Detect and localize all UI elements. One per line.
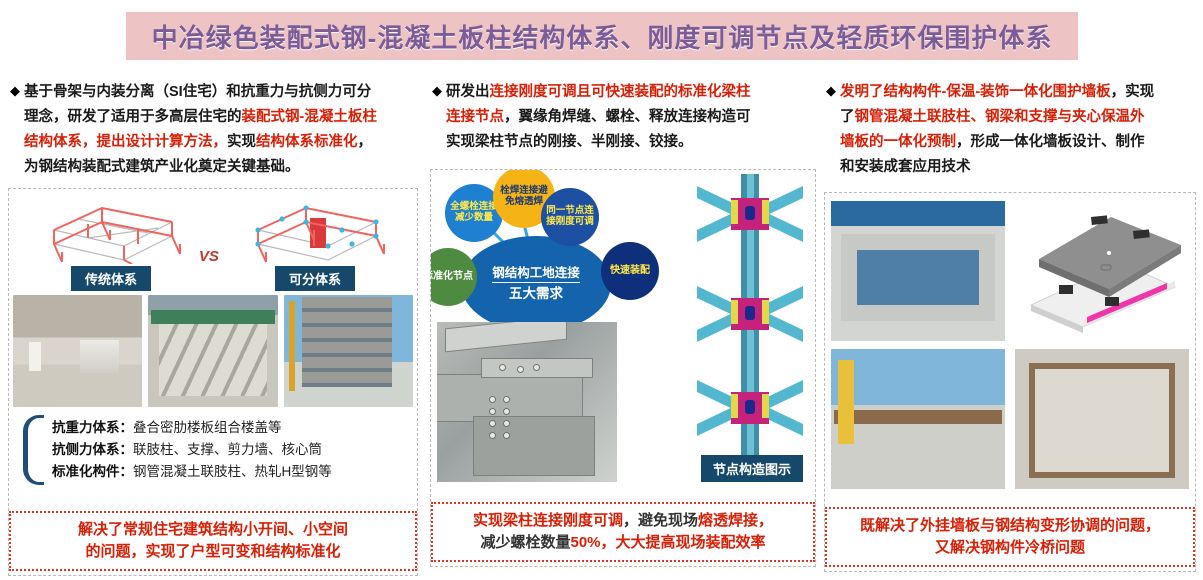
text-run: 为钢结构装配式建筑产业化奠定关键基础。 [24,159,300,175]
poster-root: 中冶绿色装配式钢-混凝土板柱结构体系、刚度可调节点及轻质环保围护体系 ◆ 基于骨… [0,0,1203,580]
paragraph-line: 了钢管混凝土联肢柱、钢梁和支撑与夹心保温外 [840,105,1192,130]
column-1-paragraph: 基于骨架与内装分离（SI住宅）和抗重力与抗侧力可分理念，研发了适用于多高层住宅的… [24,80,414,180]
photo-interior [13,295,142,407]
text-run: 基于骨架与内装分离（SI住宅）和抗重力与抗侧力可分 [24,84,371,100]
photo-panel-3d-model [1015,201,1189,341]
node-figure-label: 节点构造图示 [701,455,803,482]
paragraph-line: 为钢结构装配式建筑产业化奠定关键基础。 [24,155,414,180]
paragraph-line: 实现梁柱节点的刚接、半刚接、铰接。 [446,130,812,155]
column-1-panel: 传统体系 [8,188,418,576]
text-run: 实现梁柱连接刚度可调 [473,512,623,529]
photo-site-hoisting [831,349,1005,489]
frame-traditional: 传统体系 [36,200,186,291]
text-run: 熔透焊接， [698,512,773,529]
paragraph-line: 理念，研发了适用于多高层住宅的装配式钢-混凝土板柱 [24,105,414,130]
photo-facade-result [1015,349,1189,489]
row-0-key: 抗重力体系： [52,420,133,435]
paragraph-line: 和安装成套应用技术 [840,155,1192,180]
column-3-photo-row-1 [825,193,1195,341]
text-run: 减少螺栓数量 [480,534,570,551]
column-3-heading: ◆ 发明了结构构件-保温-装饰一体化围护墙板，实现了钢管混凝土联肢柱、钢梁和支撑… [824,78,1196,184]
panel-model-svg [1015,201,1189,341]
text-run: ，实现 [1111,84,1155,100]
column-2-panel: 钢结构工地连接 五大需求 全螺栓连接减少数量 栓焊连接避免熔透焊 同一节点连接刚… [430,169,816,567]
frame-traditional-label: 传统体系 [71,266,151,291]
column-3-photo-row-2 [825,341,1195,489]
column-1-conclusion: 解决了常规住宅建筑结构小开间、小空间的问题，实现了户型可变和结构标准化 [9,511,417,571]
text-run: 和安装成套应用技术 [840,159,971,175]
frame-separable: 可分体系 [240,200,390,291]
column-node-schematic [691,170,809,470]
row-2-val: 钢管混凝土联肢柱、热轧H型钢等 [133,464,332,479]
text-run: 解决了常规住宅建筑结构小开间、小空间 [78,521,348,538]
conclusion-line: 实现梁柱连接刚度可调，避免现场熔透焊接， [441,510,805,532]
text-run: 理念，研发了适用于多高层住宅的 [24,109,242,125]
text-run: 连接刚度可调且可快速装配的标准化梁柱 [490,84,751,100]
photo-tower [284,295,413,407]
list-item: 抗侧力体系：联肢柱、支撑、剪力墙、核心筒 [52,439,332,461]
text-run: ，翼缘角焊缝、螺栓、释放连接构造可 [504,109,751,125]
text-run: 了 [840,109,855,125]
bubble-adjustable-stiffness: 同一节点连接刚度可调 [541,188,599,246]
text-run: ， [358,134,373,150]
column-3-panel: 既解决了外挂墙板与钢结构变形协调的问题，又解决钢构件冷桥问题 [824,192,1196,572]
bubble-center-line2: 五大需求 [509,283,563,302]
system-summary: 抗重力体系：叠合密肋楼板组合楼盖等 抗侧力体系：联肢柱、支撑、剪力墙、核心筒 标… [9,407,417,485]
row-0-val: 叠合密肋楼板组合楼盖等 [133,420,282,435]
system-summary-lines: 抗重力体系：叠合密肋楼板组合楼盖等 抗侧力体系：联肢柱、支撑、剪力墙、核心筒 标… [52,417,332,483]
text-run: 50%， [570,534,615,551]
text-run: 连接节点 [446,109,504,125]
separable-frame-svg [240,200,392,264]
column-1-photo-row [9,291,417,407]
list-item: 抗重力体系：叠合密肋楼板组合楼盖等 [52,417,332,439]
column-2-conclusion: 实现梁柱连接刚度可调，避免现场熔透焊接，减少螺栓数量50%，大大提高现场装配效率 [431,502,815,562]
column-3-conclusion: 既解决了外挂墙板与钢结构变形协调的问题，又解决钢构件冷桥问题 [825,507,1195,567]
column-2-paragraph: 研发出连接刚度可调且可快速装配的标准化梁柱连接节点，翼缘角焊缝、螺栓、释放连接构… [446,80,812,155]
photo-beam-column-joint [437,322,617,482]
paragraph-line: 研发出连接刚度可调且可快速装配的标准化梁柱 [446,80,812,105]
text-run: 发明了结构构件-保温-装饰一体化围护墙板 [840,84,1111,100]
row-1-key: 抗侧力体系： [52,442,133,457]
row-1-val: 联肢柱、支撑、剪力墙、核心筒 [133,442,322,457]
text-run: 钢管混凝土联肢柱、钢梁和支撑与夹心保温外 [855,109,1145,125]
text-run: ，避免现场 [623,512,698,529]
page-title: 中冶绿色装配式钢-混凝土板柱结构体系、刚度可调节点及轻质环保围护体系 [152,18,1053,55]
column-3: ◆ 发明了结构构件-保温-装饰一体化围护墙板，实现了钢管混凝土联肢柱、钢梁和支撑… [824,78,1196,574]
frame-comparison: 传统体系 [9,189,417,291]
paragraph-line: 连接节点，翼缘角焊缝、螺栓、释放连接构造可 [446,105,812,130]
column-1: ◆ 基于骨架与内装分离（SI住宅）和抗重力与抗侧力可分理念，研发了适用于多高层住… [8,78,418,574]
photo-precast-panel [831,201,1005,341]
paragraph-line: 结构体系，提出设计计算方法，实现结构体系标准化， [24,130,414,155]
conclusion-line: 减少螺栓数量50%，大大提高现场装配效率 [441,532,805,554]
text-run: 既解决了外挂墙板与钢结构变形协调的问题， [860,517,1160,534]
text-run: 墙板的一体化预制 [840,134,956,150]
paragraph-line: 基于骨架与内装分离（SI住宅）和抗重力与抗侧力可分 [24,80,414,105]
text-run: 结构体系，提出设计计算方法， [24,134,227,150]
bullet-icon-2: ◆ [432,80,442,102]
conclusion-line: 又解决钢构件冷桥问题 [835,537,1185,559]
column-2: ◆ 研发出连接刚度可调且可快速装配的标准化梁柱连接节点，翼缘角焊缝、螺栓、释放连… [430,78,816,574]
bullet-icon-3: ◆ [826,80,836,102]
title-banner: 中冶绿色装配式钢-混凝土板柱结构体系、刚度可调节点及轻质环保围护体系 [126,12,1078,60]
column-2-heading: ◆ 研发出连接刚度可调且可快速装配的标准化梁柱连接节点，翼缘角焊缝、螺栓、释放连… [430,78,816,159]
text-run: 的问题，实现了户型可变和结构标准化 [85,543,340,560]
column-1-heading: ◆ 基于骨架与内装分离（SI住宅）和抗重力与抗侧力可分理念，研发了适用于多高层住… [8,78,418,184]
traditional-frame-svg [36,200,188,264]
bubble-center: 钢结构工地连接 五大需求 [461,236,611,332]
text-run: 实现梁柱节点的刚接、半刚接、铰接。 [446,134,693,150]
bubble-center-line1: 钢结构工地连接 [492,266,580,283]
photo-construction-site [148,295,277,407]
list-item: 标准化构件：钢管混凝土联肢柱、热轧H型钢等 [52,461,332,483]
paragraph-line: 墙板的一体化预制，形成一体化墙板设计、制作 [840,130,1192,155]
paragraph-line: 发明了结构构件-保温-装饰一体化围护墙板，实现 [840,80,1192,105]
brace-icon [23,415,44,485]
text-run: 结构体系标准化 [256,134,358,150]
text-run: 又解决钢构件冷桥问题 [935,539,1085,556]
bullet-icon-1: ◆ [10,80,20,102]
bubble-fast-assembly: 快速装配 [601,242,659,300]
row-2-key: 标准化构件： [52,464,133,479]
column-3-paragraph: 发明了结构构件-保温-装饰一体化围护墙板，实现了钢管混凝土联肢柱、钢梁和支撑与夹… [840,80,1192,180]
text-run: 装配式钢-混凝土板柱 [242,109,377,125]
text-run: ，形成一体化墙板设计、制作 [956,134,1145,150]
vs-label: VS [199,248,219,265]
frame-separable-label: 可分体系 [275,266,355,291]
conclusion-line: 的问题，实现了户型可变和结构标准化 [19,541,407,563]
node-requirements-diagram: 钢结构工地连接 五大需求 全螺栓连接减少数量 栓焊连接避免熔透焊 同一节点连接刚… [431,170,815,488]
conclusion-line: 解决了常规住宅建筑结构小开间、小空间 [19,519,407,541]
text-run: 研发出 [446,84,490,100]
conclusion-line: 既解决了外挂墙板与钢结构变形协调的问题， [835,515,1185,537]
text-run: 大大提高现场装配效率 [616,534,766,551]
text-run: 实现 [227,134,256,150]
